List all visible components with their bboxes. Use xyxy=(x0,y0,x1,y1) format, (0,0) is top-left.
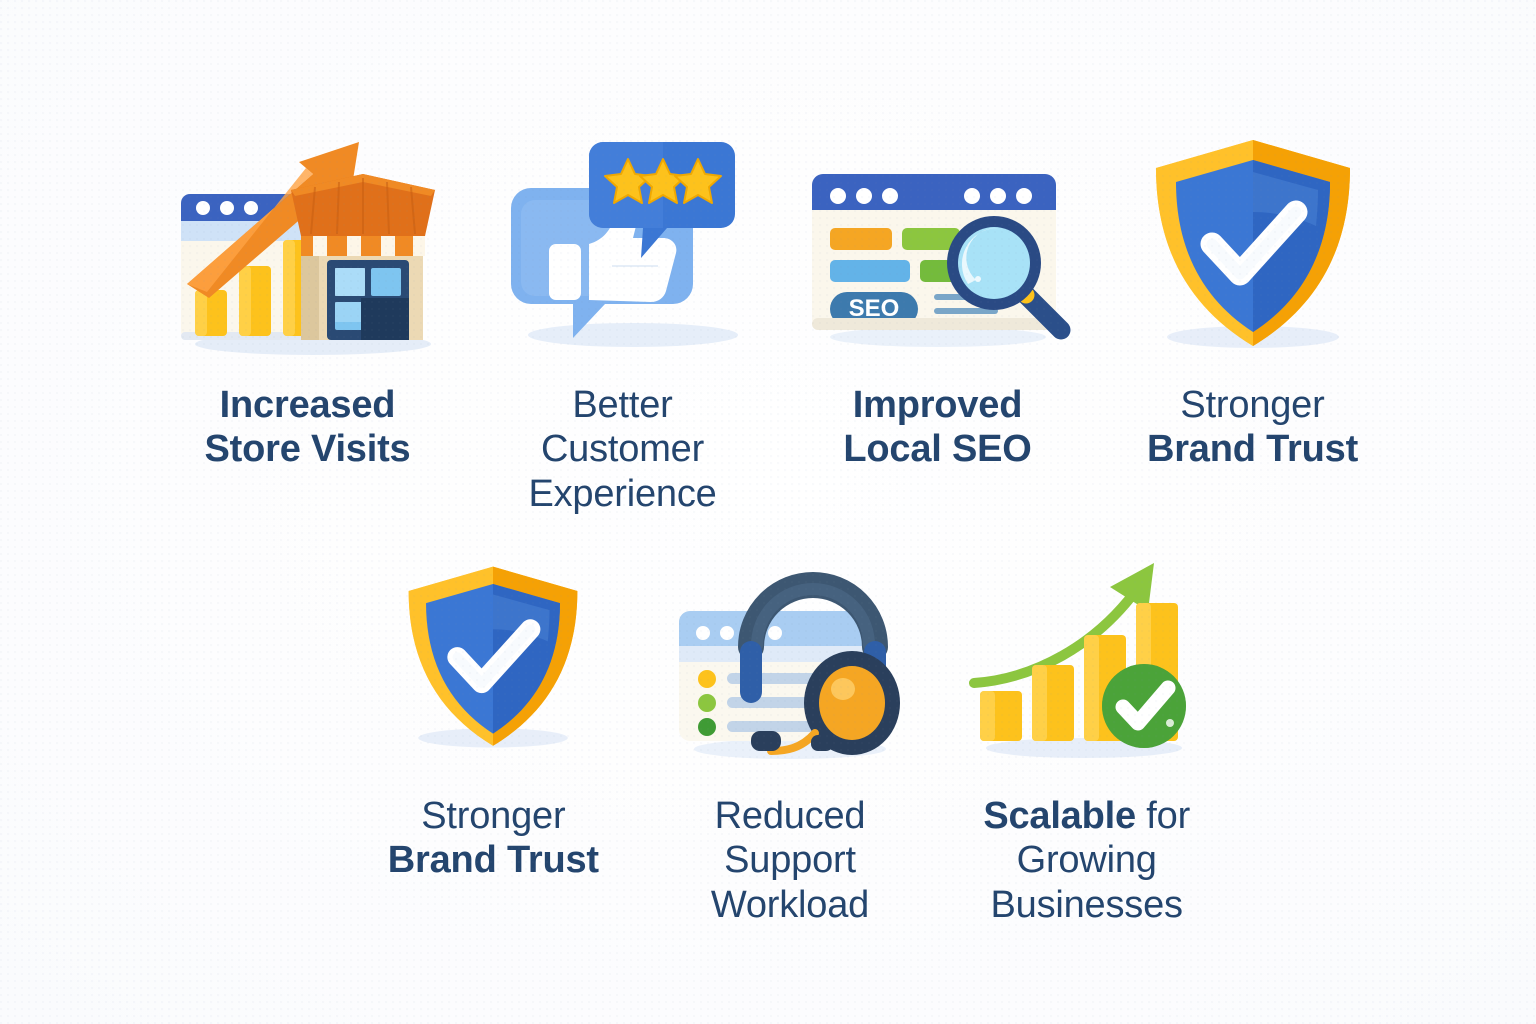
label-line: Experience xyxy=(528,473,716,515)
benefits-row-bottom: Stronger Brand Trust xyxy=(345,545,1235,927)
label-line: Brand Trust xyxy=(388,839,599,881)
benefit-label: Stronger Brand Trust xyxy=(388,794,599,883)
store-growth-icon xyxy=(163,122,453,357)
benefit-label: Increased Store Visits xyxy=(205,383,411,472)
label-line: Reduced xyxy=(715,795,866,837)
benefit-card-improved-local-seo[interactable]: SEO xyxy=(780,122,1095,516)
review-rating-icon xyxy=(493,122,753,357)
benefit-card-stronger-brand-trust-top[interactable]: Stronger Brand Trust xyxy=(1095,122,1410,516)
label-line: Stronger xyxy=(421,795,565,837)
label-line: Stronger xyxy=(1180,384,1324,426)
benefit-label: Improved Local SEO xyxy=(843,383,1031,472)
label-line: Brand Trust xyxy=(1147,428,1358,470)
label-line: Increased xyxy=(220,384,396,426)
label-line: Workload xyxy=(711,884,869,926)
support-headset-icon xyxy=(665,545,915,760)
shield-check-icon xyxy=(393,545,593,760)
shield-check-icon xyxy=(1138,122,1368,357)
infographic-canvas: Increased Store Visits xyxy=(0,0,1536,1024)
seo-badge-text: SEO xyxy=(848,295,899,322)
label-line: Better xyxy=(572,384,672,426)
benefit-label: Stronger Brand Trust xyxy=(1147,383,1358,472)
label-line: Businesses xyxy=(991,884,1183,926)
seo-search-icon: SEO xyxy=(798,122,1078,357)
label-line: Scalable xyxy=(983,795,1136,837)
benefit-card-scalable-for-growing-businesses[interactable]: Scalable for Growing Businesses xyxy=(938,545,1235,927)
benefit-label: Reduced Support Workload xyxy=(711,794,869,927)
growth-chart-check-icon xyxy=(964,545,1209,760)
benefit-card-better-customer-experience[interactable]: Better Customer Experience xyxy=(465,122,780,516)
label-line: Improved xyxy=(853,384,1022,426)
label-line: Customer xyxy=(541,428,704,470)
label-line: Store Visits xyxy=(205,428,411,470)
benefit-label: Better Customer Experience xyxy=(528,383,716,516)
benefit-label: Scalable for Growing Businesses xyxy=(983,794,1190,927)
benefits-row-top: Increased Store Visits xyxy=(150,122,1410,516)
label-line: Growing xyxy=(1017,839,1157,881)
label-line: Local SEO xyxy=(843,428,1031,470)
benefit-card-reduced-support-workload[interactable]: Reduced Support Workload xyxy=(642,545,939,927)
label-line: Support xyxy=(724,839,856,881)
benefit-card-stronger-brand-trust-bottom[interactable]: Stronger Brand Trust xyxy=(345,545,642,927)
benefit-card-increased-store-visits[interactable]: Increased Store Visits xyxy=(150,122,465,516)
label-line: for xyxy=(1146,795,1190,837)
